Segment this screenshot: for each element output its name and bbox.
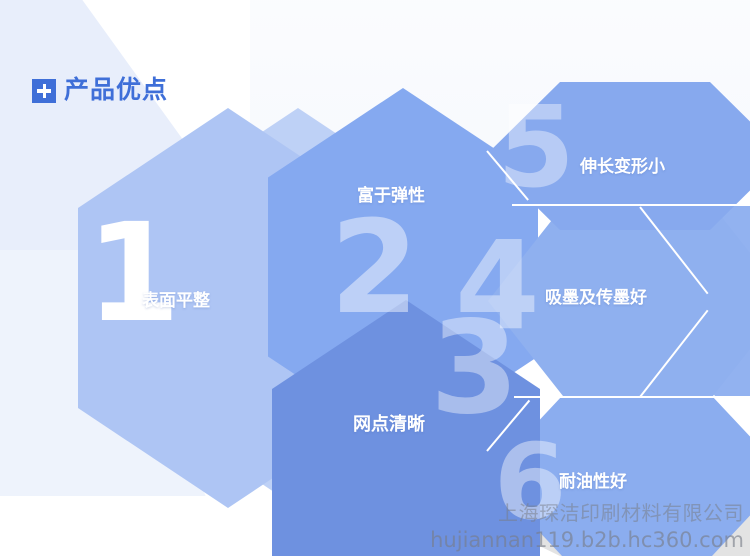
plus-icon [32,79,56,103]
hexagon-label-2: 富于弹性 [357,181,425,206]
hexagon-label-3: 网点清晰 [353,410,425,436]
hexagon-separator-lower [514,396,750,398]
hexagon-label-1: 表面平整 [142,286,210,311]
hexagon-label-4: 吸墨及传墨好 [545,283,647,308]
hexagon-label-5: 伸长变形小 [580,152,665,177]
watermark-company: 上海琛洁印刷材料有限公司 [498,497,744,526]
hexagon-number-4: 4 [455,225,540,347]
page-title: 产品优点 [64,78,168,103]
hexagon-number-1: 1 [86,206,181,342]
hexagon-label-6: 耐油性好 [559,467,627,492]
hexagon-number-5: 5 [497,92,575,204]
watermark-url: hujiannan119.b2b.hc360.com [430,528,744,552]
hexagon-number-2: 2 [330,205,419,333]
product-advantages-banner: 1 2 3 4 5 6 表面平整 富于弹性 网点清晰 吸墨及传墨好 伸长变形小 … [0,0,750,556]
page-title-row: 产品优点 [32,78,168,103]
